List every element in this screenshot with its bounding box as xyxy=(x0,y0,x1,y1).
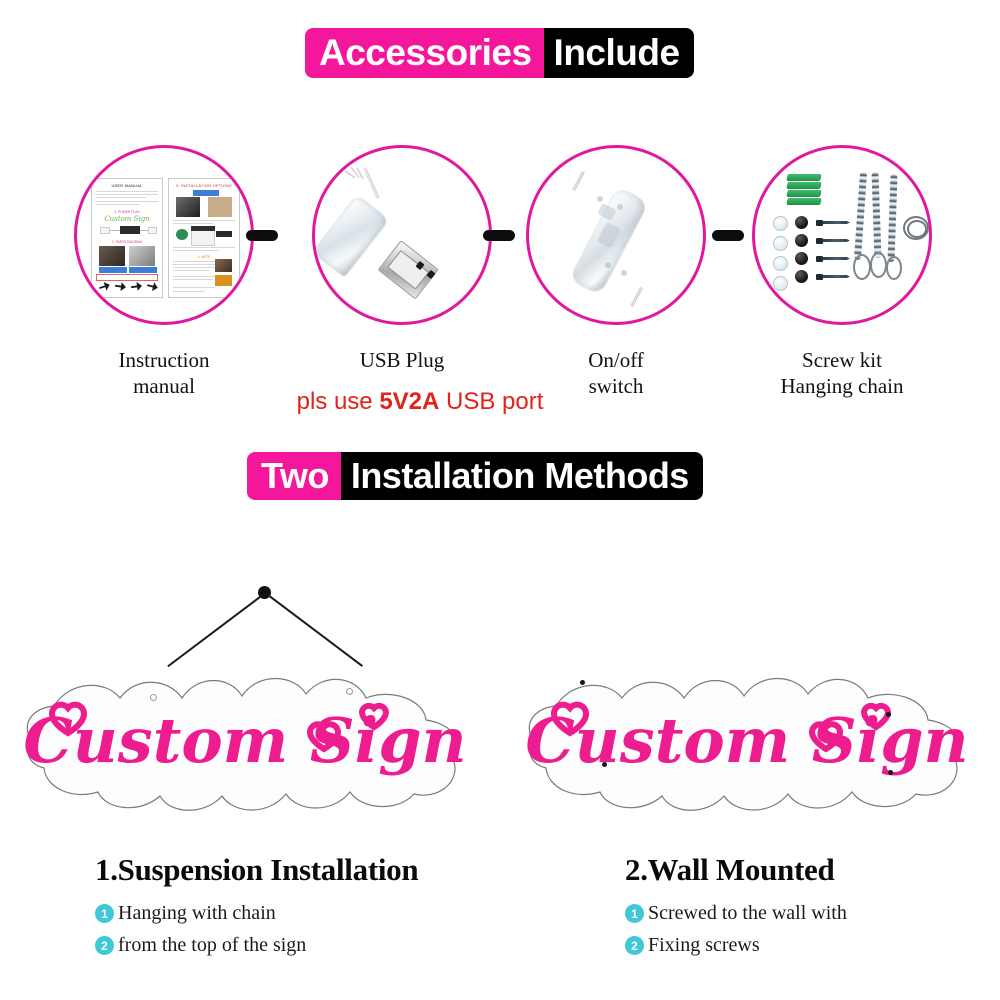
manual-page-right: 3. INSTALLATION OPTIONS 4. NOTE xyxy=(168,178,240,298)
manual-right-note-title: 4. NOTE xyxy=(198,255,210,259)
method-2-block: 2.Wall Mounted 1 Screwed to the wall wit… xyxy=(625,852,1000,966)
method-2-step-2-text: Fixing screws xyxy=(648,934,760,957)
onoff-switch-icon xyxy=(569,166,679,316)
accessories-banner-black-label: Include xyxy=(544,28,694,78)
accessory-circle-switch xyxy=(526,145,706,325)
accessories-banner-pink-label: Accessories xyxy=(305,28,544,78)
accessory-circle-usb xyxy=(312,145,492,325)
methods-banner: Two Installation Methods xyxy=(247,452,703,500)
sign-board-suspension-svg: Custom Sign xyxy=(10,650,480,820)
product-infographic: Accessories Include USER MANUAL 1. POWER… xyxy=(0,0,1000,1000)
method-1-step-1: 1 Hanging with chain xyxy=(95,902,525,925)
usb-note-emphasis: 5V2A xyxy=(379,388,439,415)
method-1-step-1-text: Hanging with chain xyxy=(118,902,276,925)
accessories-row: USER MANUAL 1. POWER PLAN Custom Sign 2.… xyxy=(0,140,1000,340)
method-2-title: 2.Wall Mounted xyxy=(625,852,1000,888)
caption-screw-kit: Screw kit Hanging chain xyxy=(740,348,944,399)
separator-dash-1 xyxy=(246,230,278,241)
step-badge-2: 2 xyxy=(95,936,114,955)
usb-note-prefix: pls use xyxy=(297,388,380,415)
chain-hole-left xyxy=(150,694,157,701)
method-1-step-2: 2 from the top of the sign xyxy=(95,934,525,957)
caption-switch-line1: On/off xyxy=(536,348,696,374)
sign-board-wall-mounted: Custom Sign xyxy=(512,650,982,820)
method-1-title: 1.Suspension Installation xyxy=(95,852,525,888)
usb-note-suffix: USB port xyxy=(439,388,543,415)
instruction-manual-icon: USER MANUAL 1. POWER PLAN Custom Sign 2.… xyxy=(91,178,241,298)
installation-illustrations: Custom Sign Custom Sign xyxy=(0,530,1000,850)
method-1-block: 1.Suspension Installation 1 Hanging with… xyxy=(95,852,525,966)
step-badge-1: 1 xyxy=(95,904,114,923)
method-2-step-1-text: Screwed to the wall with xyxy=(648,902,847,925)
washers xyxy=(773,216,788,296)
accessory-circle-manual: USER MANUAL 1. POWER PLAN Custom Sign 2.… xyxy=(74,145,254,325)
manual-left-section1: 1. POWER PLAN xyxy=(115,210,140,214)
sign-text-wall: Custom Sign xyxy=(525,704,968,777)
screw-caps xyxy=(795,216,808,288)
manual-page-left: USER MANUAL 1. POWER PLAN Custom Sign 2.… xyxy=(91,178,163,298)
separator-dash-2 xyxy=(483,230,515,241)
caption-screw-line1: Screw kit xyxy=(740,348,944,374)
chain-hole-right xyxy=(346,688,353,695)
mount-hole-1 xyxy=(580,680,585,685)
methods-banner-pink-label: Two xyxy=(247,452,341,500)
methods-banner-black-label: Installation Methods xyxy=(341,452,703,500)
method-2-step-1: 1 Screwed to the wall with xyxy=(625,902,1000,925)
manual-left-script: Custom Sign xyxy=(104,215,149,223)
caption-usb: USB Plug xyxy=(322,348,482,374)
accessory-circle-screw-kit xyxy=(752,145,932,325)
method-1-step-2-text: from the top of the sign xyxy=(118,934,306,957)
mount-hole-2 xyxy=(602,762,607,767)
mount-hole-3 xyxy=(886,712,891,717)
manual-left-title: USER MANUAL xyxy=(111,183,142,188)
caption-manual-line2: manual xyxy=(84,374,244,400)
sign-board-wall-svg: Custom Sign xyxy=(512,650,982,820)
usb-power-note: pls use 5V2A USB port xyxy=(230,388,610,416)
caption-usb-line1: USB Plug xyxy=(322,348,482,374)
step-badge-2: 2 xyxy=(625,936,644,955)
screw-kit-icon xyxy=(771,168,923,308)
caption-manual-line1: Instruction xyxy=(84,348,244,374)
manual-left-section2: 2. PARTS DIAGRAM xyxy=(112,240,142,244)
screws xyxy=(816,216,850,288)
usb-plug-icon xyxy=(343,166,473,311)
caption-manual: Instruction manual xyxy=(84,348,244,399)
caption-screw-line2: Hanging chain xyxy=(740,374,944,400)
step-badge-1: 1 xyxy=(625,904,644,923)
manual-right-title: 3. INSTALLATION OPTIONS xyxy=(176,183,232,188)
wall-anchors xyxy=(787,174,821,208)
separator-dash-3 xyxy=(712,230,744,241)
accessories-banner: Accessories Include xyxy=(305,28,694,78)
sign-board-suspension: Custom Sign xyxy=(10,650,480,820)
method-2-step-2: 2 Fixing screws xyxy=(625,934,1000,957)
sign-text-suspension: Custom Sign xyxy=(23,704,466,777)
mount-hole-4 xyxy=(888,770,893,775)
